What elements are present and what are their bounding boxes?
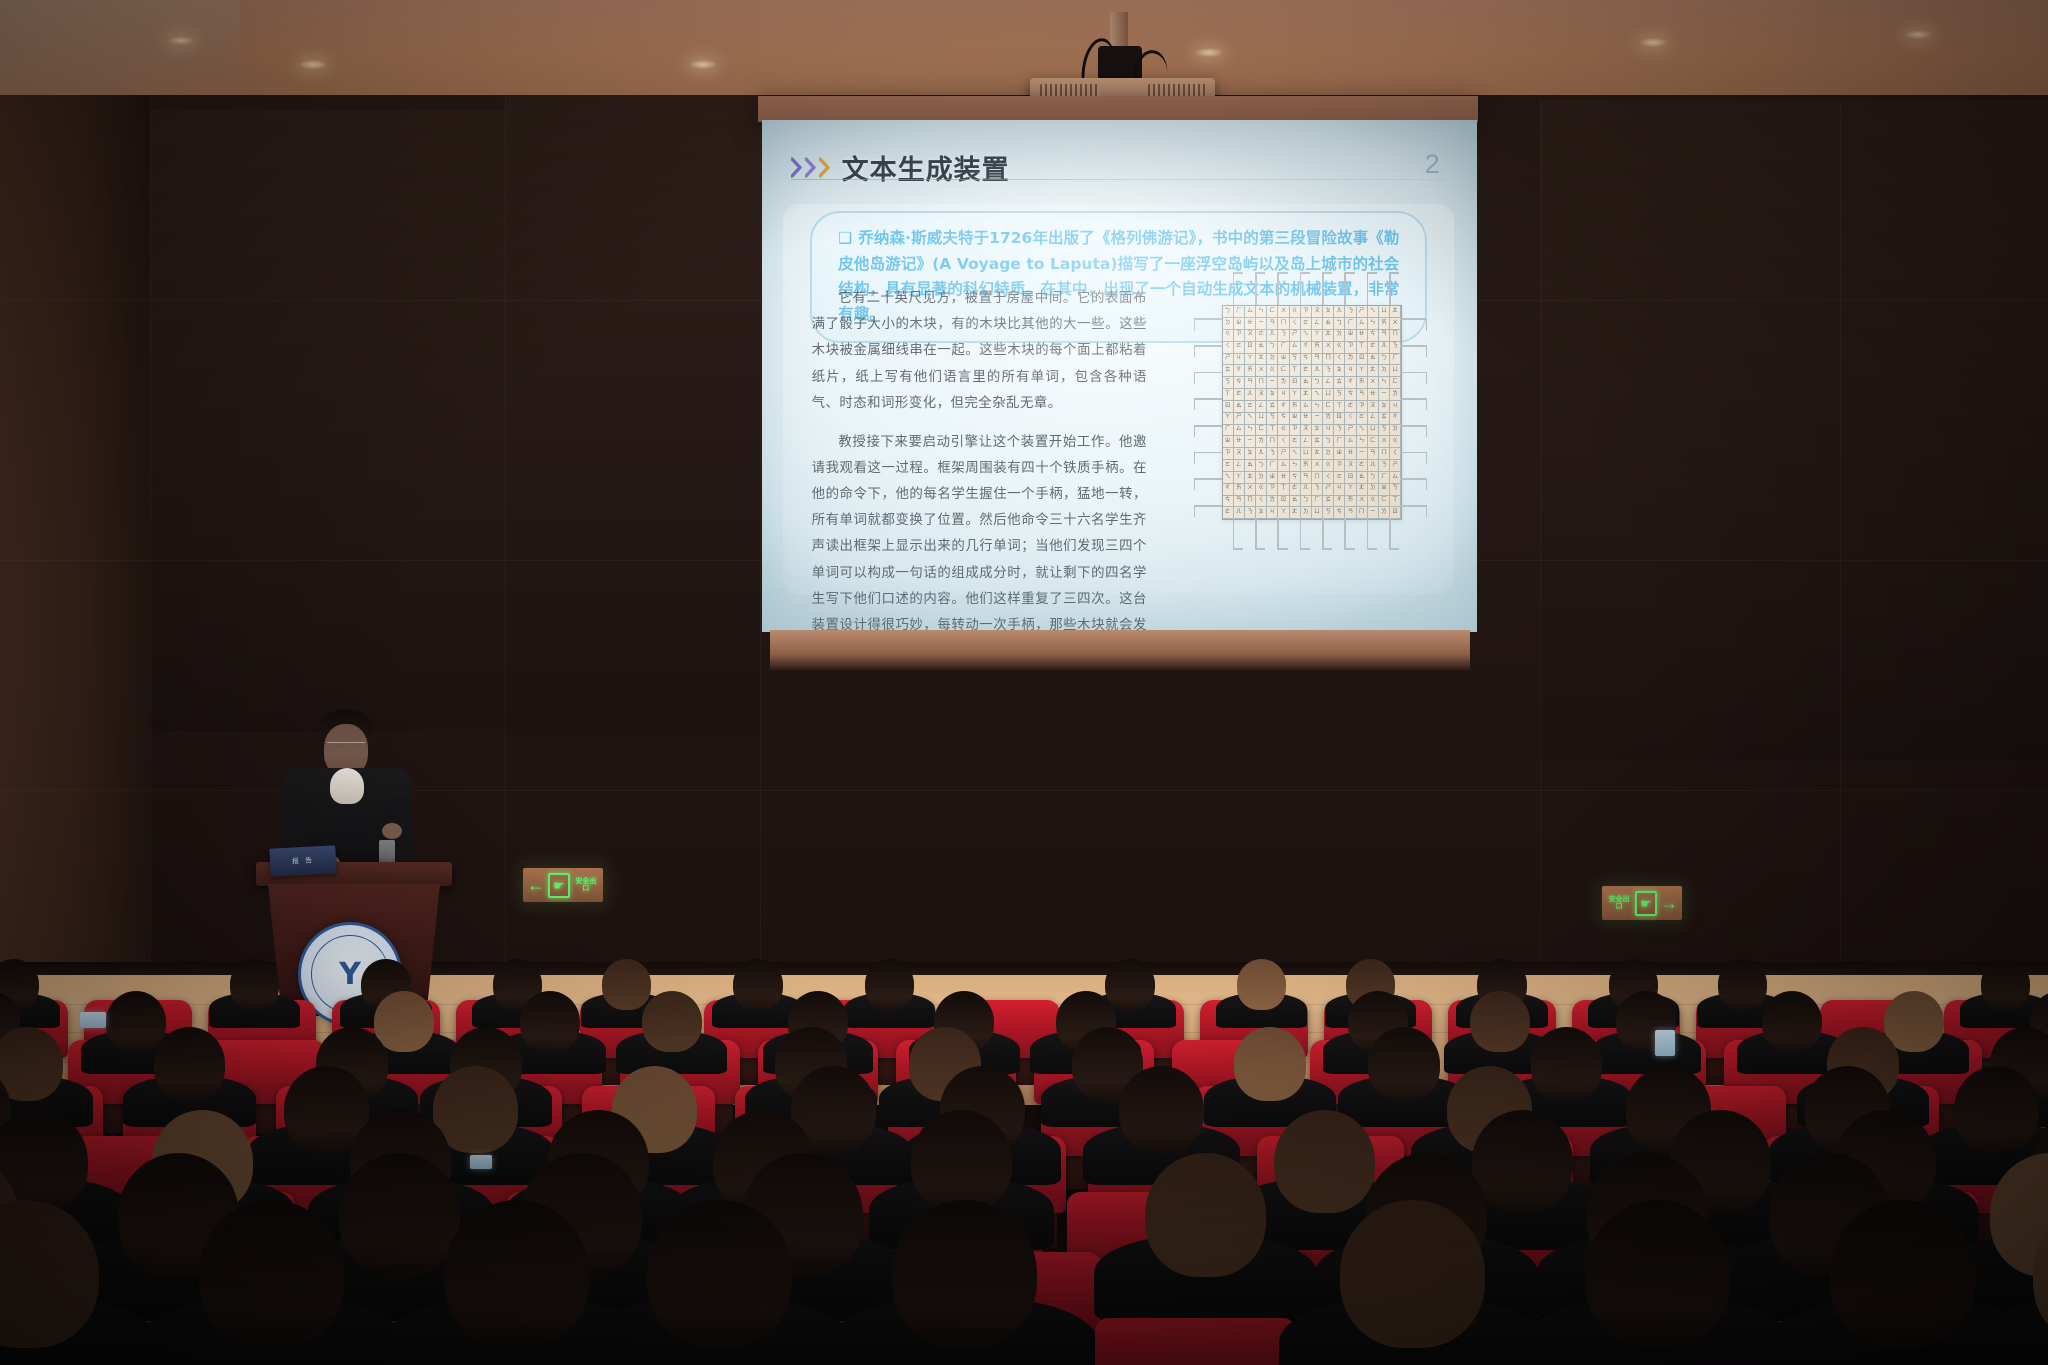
engine-glyph-cell: ㄗ — [1267, 484, 1278, 496]
engine-glyph-cell: ㄆ — [1312, 425, 1323, 437]
engine-glyph-cell: ㄥ — [1256, 401, 1267, 413]
engine-handle-right-bar — [1426, 318, 1428, 330]
engine-glyph-cell: ㄦ — [1245, 389, 1256, 401]
engine-glyph-cell: ㄇ — [1379, 448, 1390, 460]
engine-glyph-cell: ㄐ — [1323, 425, 1334, 437]
engine-glyph-cell: ㄥ — [1312, 318, 1323, 330]
engine-glyph-cell: ㄤ — [1357, 484, 1368, 496]
engine-glyph-cell: ㄦ — [1379, 342, 1390, 354]
engine-glyph-cell: ㄅ — [1301, 496, 1312, 508]
engine-handle-top-bar — [1344, 272, 1354, 274]
engine-glyph-cell: ㄣ — [1312, 401, 1323, 413]
wall-panel-block-left — [150, 110, 505, 730]
engine-glyph-cell: ㄙ — [1234, 425, 1245, 437]
engine-glyph-cell: ㄢ — [1234, 496, 1245, 508]
audience-member-head — [106, 991, 166, 1052]
engine-glyph-cell: ㄉ — [1223, 318, 1234, 330]
engine-glyph-cell: ㄚ — [1357, 365, 1368, 377]
engine-glyph-cell: ㄏ — [1379, 472, 1390, 484]
engine-glyph-cell: ㄘ — [1301, 354, 1312, 366]
engine-glyph-cell: ㄙ — [1345, 436, 1356, 448]
ceiling-left-soffit — [0, 0, 240, 96]
engine-glyph-cell: ㄈ — [1323, 401, 1334, 413]
audience-member-head — [865, 959, 915, 1010]
engine-glyph-cell: ㄆ — [1323, 306, 1334, 318]
engine-handle-left-bar — [1194, 345, 1196, 357]
exit-sign-label: 安全出口 — [573, 878, 599, 893]
engine-glyph-cell: ㄟ — [1368, 306, 1379, 318]
engine-glyph-cell: ㄕ — [1357, 306, 1368, 318]
audience-member-head — [1954, 1066, 2039, 1153]
engine-glyph-cell: ㄤ — [1390, 306, 1401, 318]
slide-title: 文本生成装置 — [842, 148, 1010, 187]
audience-member-head — [1470, 991, 1530, 1052]
engine-glyph-cell: ㄦ — [1368, 460, 1379, 472]
engine-glyph-cell: ㄒ — [1278, 484, 1289, 496]
engine-handle-left-bar — [1194, 452, 1196, 464]
audience-phone-screen — [470, 1155, 492, 1169]
exit-arrow-right-icon: → — [1660, 894, 1678, 912]
engine-handle-top — [1322, 273, 1324, 305]
engine-glyph-cell: ㄖ — [1290, 377, 1301, 389]
engine-glyph-cell: ㄒ — [1267, 425, 1278, 437]
engine-glyph-cell: ㄇ — [1278, 318, 1289, 330]
engine-glyph-cell: ㄚ — [1312, 330, 1323, 342]
engine-glyph-cell: ㄦ — [1267, 330, 1278, 342]
engine-glyph-cell: ㄞ — [1301, 460, 1312, 472]
wall-panel-block-mid — [505, 95, 760, 735]
engine-glyph-cell: ㄣ — [1256, 306, 1267, 318]
engine-glyph-cell: ㄊ — [1267, 401, 1278, 413]
audience-member-head — [602, 959, 652, 1010]
engine-glyph-cell: ㄊ — [1323, 496, 1334, 508]
engine-glyph-cell: ㄣ — [1357, 436, 1368, 448]
exit-sign-right: 安全出口 ☛ → — [1602, 886, 1682, 920]
engine-glyph-cell: ㄎ — [1379, 425, 1390, 437]
engine-glyph-cell: ㄆ — [1334, 365, 1345, 377]
engine-glyph-cell: ㄞ — [1234, 484, 1245, 496]
auditorium-seat[interactable] — [1095, 1318, 1296, 1365]
audience-member-head — [1718, 959, 1768, 1010]
wall-seam — [760, 95, 761, 975]
engine-glyph-cell: ㄌ — [1323, 413, 1334, 425]
engine-glyph-cell: ㄧ — [1256, 318, 1267, 330]
screen-top-valance — [758, 96, 1478, 122]
engine-glyph-cell: ㄧ — [1245, 436, 1256, 448]
engine-glyph-cell: ㄆ — [1245, 448, 1256, 460]
engine-glyph-cell: ㄨ — [1357, 496, 1368, 508]
engine-handle-top-bar — [1389, 272, 1399, 274]
ceiling-downlight — [1640, 38, 1666, 47]
engine-glyph-cell: ㄚ — [1234, 472, 1245, 484]
engine-glyph-cell: ㄟ — [1245, 413, 1256, 425]
engine-glyph-cell: ㄜ — [1345, 401, 1356, 413]
engine-glyph-cell: ㄡ — [1234, 448, 1245, 460]
engine-glyph-cell: ㄏ — [1278, 342, 1289, 354]
engine-glyph-cell: ㄔ — [1390, 413, 1401, 425]
engine-glyph-cell: ㄚ — [1278, 507, 1289, 519]
engine-glyph-cell: ㄣ — [1290, 460, 1301, 472]
engine-glyph-cell: ㄠ — [1256, 342, 1267, 354]
engine-glyph-cell: ㄓ — [1278, 354, 1289, 366]
engine-glyph-cell: ㄜ — [1357, 460, 1368, 472]
engine-glyph-cell: ㄖ — [1390, 507, 1401, 519]
audience-member-head — [1762, 991, 1822, 1052]
engine-glyph-cell: ㄧ — [1357, 448, 1368, 460]
engine-glyph-cell: ㄨ — [1312, 460, 1323, 472]
speaker-shirt — [330, 768, 364, 804]
engine-glyph-cell: ㄦ — [1234, 507, 1245, 519]
engine-glyph-cell: ㄘ — [1223, 496, 1234, 508]
engine-glyph-cell: ㄆ — [1256, 507, 1267, 519]
engine-handle-bottom-bar — [1389, 548, 1399, 550]
engine-glyph-cell: ㄉ — [1334, 330, 1345, 342]
engine-handle-left — [1195, 398, 1222, 400]
engine-glyph-cell: ㄋ — [1379, 460, 1390, 472]
ceiling-downlight — [690, 60, 716, 69]
audience-member-head — [339, 1153, 460, 1277]
engine-glyph-cell: ㄡ — [1312, 306, 1323, 318]
engine-glyph-cell: ㄘ — [1234, 377, 1245, 389]
exit-label-cn: 安全出口 — [575, 878, 596, 892]
engine-glyph-cell: ㄔ — [1234, 365, 1245, 377]
audience-member-head — [1830, 1200, 1975, 1348]
engine-glyph-cell: ㄛ — [1334, 472, 1345, 484]
engine-glyph-cell: ㄓ — [1379, 484, 1390, 496]
engine-glyph-cell: ㄥ — [1234, 460, 1245, 472]
engine-glyph-cell: ㄦ — [1334, 306, 1345, 318]
engine-glyph-cell: ㄠ — [1368, 354, 1379, 366]
engine-glyph-cell: ㄊ — [1223, 365, 1234, 377]
engine-handle-right — [1400, 505, 1427, 507]
engine-glyph-cell: ㄕ — [1290, 330, 1301, 342]
engine-glyph-cell: ㄋ — [1278, 330, 1289, 342]
engine-glyph-cell: ㄝ — [1345, 448, 1356, 460]
audience-member-head — [1105, 959, 1155, 1010]
engine-glyph-cell: ㄨ — [1245, 484, 1256, 496]
engine-glyph-cell: ㄛ — [1234, 342, 1245, 354]
running-man-icon: ☛ — [548, 873, 570, 898]
engine-glyph-cell: ㄒ — [1334, 401, 1345, 413]
engine-glyph-cell: ㄞ — [1379, 318, 1390, 330]
engine-handle-right — [1400, 398, 1427, 400]
engine-glyph-cell: ㄛ — [1290, 436, 1301, 448]
engine-glyph-cell: ㄒ — [1290, 365, 1301, 377]
engine-glyph-cell: ㄌ — [1256, 436, 1267, 448]
engine-handle-right-bar — [1426, 505, 1428, 517]
exit-sign-left: ← ☛ 安全出口 — [523, 868, 603, 902]
engine-glyph-cell: ㄥ — [1301, 436, 1312, 448]
engine-glyph-cell: ㄚ — [1290, 389, 1301, 401]
engine-glyph-grid: ㄅㄏㄙㄣㄈㄨㄍㄗㄡㄆㄦㄋㄕㄟㄩㄤㄉㄓㄝㄧㄢㄇㄑㄛㄥㄠㄅㄏㄙㄣㄞㄨㄍㄗㄡㄜㄦㄋㄕㄟ… — [1222, 305, 1403, 520]
engine-glyph-cell: ㄣ — [1368, 318, 1379, 330]
engine-glyph-cell: ㄆ — [1267, 389, 1278, 401]
audience-member-head — [642, 991, 702, 1052]
engine-handle-right-bar — [1426, 425, 1428, 437]
audience-member-head — [1368, 1027, 1440, 1100]
engine-glyph-cell: ㄍ — [1290, 306, 1301, 318]
engine-handle-top — [1367, 273, 1369, 305]
engine-glyph-cell: ㄌ — [1278, 377, 1289, 389]
engine-glyph-cell: ㄡ — [1368, 401, 1379, 413]
wall-seam — [150, 110, 151, 970]
engine-handle-right — [1400, 318, 1427, 320]
engine-glyph-cell: ㄕ — [1390, 460, 1401, 472]
ceiling-downlight — [1905, 30, 1931, 39]
audience-member-head — [444, 1200, 589, 1348]
wall-seam — [1540, 100, 1541, 975]
engine-glyph-cell: ㄚ — [1245, 354, 1256, 366]
engine-glyph-cell: ㄘ — [1290, 472, 1301, 484]
engine-glyph-cell: ㄕ — [1278, 448, 1289, 460]
engine-glyph-cell: ㄨ — [1256, 365, 1267, 377]
slide-canvas: 文本生成装置 2 ❑乔纳森·斯威夫特于1726年出版了《格列佛游记》，书中的第三… — [762, 120, 1477, 632]
engine-handle-bottom-bar — [1233, 548, 1243, 550]
engine-glyph-cell: ㄥ — [1368, 413, 1379, 425]
engine-handle-top-bar — [1233, 272, 1243, 274]
engine-glyph-cell: ㄅ — [1312, 377, 1323, 389]
engine-handle-top — [1389, 273, 1391, 305]
engine-handle-left — [1195, 478, 1222, 480]
engine-glyph-cell: ㄜ — [1256, 330, 1267, 342]
slide-header: 文本生成装置 — [791, 148, 1010, 187]
engine-glyph-cell: ㄍ — [1390, 436, 1401, 448]
engine-glyph-cell: ㄧ — [1267, 377, 1278, 389]
audience-member-head — [911, 1110, 1012, 1213]
engine-glyph-cell: ㄎ — [1223, 377, 1234, 389]
engine-glyph-cell: ㄦ — [1256, 448, 1267, 460]
engine-handle-top-bar — [1322, 272, 1332, 274]
engine-glyph-cell: ㄔ — [1334, 496, 1345, 508]
audience-member-head — [1234, 1027, 1306, 1100]
exit-sign-label: 安全出口 — [1606, 896, 1632, 911]
engine-glyph-cell: ㄆ — [1379, 401, 1390, 413]
slide-body-text: 它有二十英尺见方，被置于房屋中间。它的表面布满了骰子大小的木块，有的木块比其他的… — [812, 286, 1147, 632]
engine-glyph-cell: ㄉ — [1267, 354, 1278, 366]
audience-member-head — [1340, 1200, 1485, 1348]
nameplate-text: 报 告 — [292, 855, 315, 866]
audience-member-head — [374, 991, 434, 1052]
engine-handle-left — [1195, 372, 1222, 374]
engine-handle-top-bar — [1300, 272, 1310, 274]
engine-handle-bottom — [1389, 518, 1391, 550]
engine-glyph-cell: ㄨ — [1379, 436, 1390, 448]
engine-handle-right — [1400, 345, 1427, 347]
engine-glyph-cell: ㄧ — [1312, 413, 1323, 425]
engine-glyph-cell: ㄓ — [1223, 436, 1234, 448]
engine-glyph-cell: ㄑ — [1390, 448, 1401, 460]
engine-handle-bottom-bar — [1300, 548, 1310, 550]
engine-glyph-cell: ㄡ — [1301, 425, 1312, 437]
engine-glyph-cell: ㄉ — [1368, 484, 1379, 496]
engine-glyph-cell: ㄅ — [1223, 306, 1234, 318]
engine-glyph-cell: ㄒ — [1357, 342, 1368, 354]
engine-glyph-cell: ㄟ — [1301, 330, 1312, 342]
engine-glyph-cell: ㄏ — [1234, 306, 1245, 318]
engine-glyph-cell: ㄖ — [1278, 496, 1289, 508]
engine-glyph-cell: ㄟ — [1223, 472, 1234, 484]
engine-glyph-cell: ㄕ — [1234, 413, 1245, 425]
engine-glyph-cell: ㄤ — [1323, 330, 1334, 342]
engine-glyph-cell: ㄗ — [1290, 425, 1301, 437]
engine-glyph-cell: ㄜ — [1301, 365, 1312, 377]
body-paragraph: 它有二十英尺见方，被置于房屋中间。它的表面布满了骰子大小的木块，有的木块比其他的… — [812, 286, 1147, 417]
engine-handle-top-bar — [1255, 272, 1265, 274]
engine-glyph-cell: ㄗ — [1301, 306, 1312, 318]
engine-glyph-cell: ㄌ — [1345, 354, 1356, 366]
engine-glyph-cell: ㄠ — [1357, 472, 1368, 484]
engine-handle-bottom — [1277, 518, 1279, 550]
engine-glyph-cell: ㄢ — [1301, 472, 1312, 484]
engine-handle-right — [1400, 425, 1427, 427]
lecture-hall-photo: 文本生成装置 2 ❑乔纳森·斯威夫特于1726年出版了《格列佛游记》，书中的第三… — [0, 0, 2048, 1365]
engine-glyph-cell: ㄎ — [1323, 507, 1334, 519]
engine-glyph-cell: ㄦ — [1312, 365, 1323, 377]
engine-glyph-cell: ㄨ — [1368, 377, 1379, 389]
engine-handle-left — [1195, 452, 1222, 454]
engine-glyph-cell: ㄜ — [1368, 342, 1379, 354]
engine-glyph-cell: ㄠ — [1301, 377, 1312, 389]
engine-glyph-cell: ㄋ — [1267, 448, 1278, 460]
engine-glyph-cell: ㄟ — [1357, 425, 1368, 437]
laputa-text-engine-diagram: ㄅㄏㄙㄣㄈㄨㄍㄗㄡㄆㄦㄋㄕㄟㄩㄤㄉㄓㄝㄧㄢㄇㄑㄛㄥㄠㄅㄏㄙㄣㄞㄨㄍㄗㄡㄜㄦㄋㄕㄟ… — [1193, 271, 1434, 559]
engine-glyph-cell: ㄈ — [1256, 425, 1267, 437]
engine-glyph-cell: ㄉ — [1301, 507, 1312, 519]
engine-glyph-cell: ㄐ — [1278, 389, 1289, 401]
engine-glyph-cell: ㄗ — [1357, 401, 1368, 413]
engine-glyph-cell: ㄑ — [1223, 342, 1234, 354]
engine-handle-left-bar — [1194, 398, 1196, 410]
engine-glyph-cell: ㄑ — [1323, 472, 1334, 484]
engine-glyph-cell: ㄎ — [1267, 413, 1278, 425]
audience-member-head — [1472, 1110, 1573, 1213]
engine-glyph-cell: ㄐ — [1334, 484, 1345, 496]
engine-glyph-cell: ㄍ — [1223, 330, 1234, 342]
exit-label-cn: 安全出口 — [1609, 896, 1630, 910]
speaker-glasses — [327, 742, 365, 748]
engine-glyph-cell: ㄡ — [1245, 330, 1256, 342]
engine-glyph-cell: ㄟ — [1290, 448, 1301, 460]
engine-glyph-cell: ㄋ — [1345, 306, 1356, 318]
engine-glyph-cell: ㄖ — [1223, 401, 1234, 413]
engine-glyph-cell: ㄞ — [1290, 401, 1301, 413]
slide-header-rule — [791, 179, 1447, 180]
engine-glyph-cell: ㄧ — [1379, 389, 1390, 401]
engine-handle-right — [1400, 372, 1427, 374]
engine-handle-top — [1277, 273, 1279, 305]
audience-member-head — [1237, 959, 1287, 1010]
engine-glyph-cell: ㄈ — [1278, 365, 1289, 377]
engine-glyph-cell: ㄓ — [1334, 448, 1345, 460]
engine-glyph-cell: ㄅ — [1379, 354, 1390, 366]
engine-glyph-cell: ㄉ — [1323, 448, 1334, 460]
engine-glyph-cell: ㄅ — [1323, 436, 1334, 448]
engine-glyph-cell: ㄌ — [1267, 496, 1278, 508]
engine-glyph-cell: ㄖ — [1345, 472, 1356, 484]
audience-member-head — [199, 1200, 344, 1348]
engine-glyph-cell: ㄊ — [1312, 436, 1323, 448]
engine-glyph-cell: ㄅ — [1256, 460, 1267, 472]
engine-glyph-cell: ㄤ — [1256, 354, 1267, 366]
engine-handle-left — [1195, 505, 1222, 507]
ceiling-downlight — [1196, 48, 1222, 57]
engine-glyph-cell: ㄎ — [1290, 354, 1301, 366]
engine-handle-left — [1195, 345, 1222, 347]
engine-glyph-cell: ㄛ — [1357, 413, 1368, 425]
engine-glyph-cell: ㄏ — [1334, 436, 1345, 448]
audience-member-head — [154, 1027, 226, 1100]
speaker-hand-right — [382, 823, 402, 839]
engine-glyph-cell: ㄝ — [1301, 413, 1312, 425]
audience-member-head — [1531, 1027, 1603, 1100]
engine-glyph-cell: ㄍ — [1278, 425, 1289, 437]
engine-glyph-cell: ㄋ — [1390, 342, 1401, 354]
engine-glyph-cell: ㄝ — [1357, 330, 1368, 342]
engine-glyph-cell: ㄓ — [1345, 330, 1356, 342]
engine-glyph-cell: ㄅ — [1267, 342, 1278, 354]
engine-handle-left — [1195, 425, 1222, 427]
wall-seam — [505, 95, 506, 975]
engine-glyph-cell: ㄝ — [1278, 472, 1289, 484]
engine-glyph-cell: ㄉ — [1256, 472, 1267, 484]
ceiling-downlight — [168, 36, 194, 45]
engine-handle-left-bar — [1194, 505, 1196, 517]
body-paragraph: 教授接下来要启动引擎让这个装置开始工作。他邀请我观看这一过程。框架周围装有四十个… — [812, 430, 1147, 632]
engine-glyph-cell: ㄞ — [1357, 377, 1368, 389]
engine-handle-bottom-bar — [1367, 548, 1377, 550]
engine-glyph-cell: ㄠ — [1323, 318, 1334, 330]
engine-glyph-cell: ㄓ — [1234, 318, 1245, 330]
engine-glyph-cell: ㄍ — [1256, 484, 1267, 496]
engine-glyph-cell: ㄏ — [1390, 354, 1401, 366]
engine-glyph-cell: ㄣ — [1379, 377, 1390, 389]
engine-glyph-cell: ㄝ — [1368, 389, 1379, 401]
engine-glyph-cell: ㄒ — [1223, 389, 1234, 401]
audience-phone-screen — [1655, 1030, 1675, 1056]
engine-glyph-cell: ㄩ — [1323, 389, 1334, 401]
engine-handle-top — [1255, 273, 1257, 305]
engine-glyph-cell: ㄐ — [1234, 354, 1245, 366]
engine-glyph-cell: ㄘ — [1368, 330, 1379, 342]
engine-glyph-cell: ㄇ — [1390, 330, 1401, 342]
engine-handle-top-bar — [1277, 272, 1287, 274]
engine-handle-left-bar — [1194, 372, 1196, 384]
engine-glyph-cell: ㄈ — [1368, 436, 1379, 448]
engine-handle-bottom — [1344, 518, 1346, 550]
engine-glyph-cell: ㄩ — [1301, 448, 1312, 460]
audience-member-head — [1145, 1153, 1266, 1277]
projection-screen: 文本生成装置 2 ❑乔纳森·斯威夫特于1726年出版了《格列佛游记》，书中的第三… — [762, 120, 1477, 632]
engine-glyph-cell: ㄅ — [1368, 472, 1379, 484]
engine-glyph-cell: ㄢ — [1379, 330, 1390, 342]
engine-glyph-cell: ㄈ — [1267, 306, 1278, 318]
audience-phone-screen — [80, 1012, 106, 1028]
engine-glyph-cell: ㄤ — [1245, 472, 1256, 484]
callout-bullet-icon: ❑ — [838, 229, 852, 247]
engine-glyph-cell: ㄙ — [1357, 318, 1368, 330]
engine-glyph-cell: ㄜ — [1234, 389, 1245, 401]
engine-glyph-cell: ㄏ — [1267, 460, 1278, 472]
engine-glyph-cell: ㄈ — [1390, 377, 1401, 389]
engine-glyph-cell: ㄕ — [1323, 484, 1334, 496]
engine-glyph-cell: ㄏ — [1223, 425, 1234, 437]
engine-glyph-cell: ㄑ — [1290, 318, 1301, 330]
engine-glyph-cell: ㄓ — [1290, 413, 1301, 425]
engine-handle-right-bar — [1426, 345, 1428, 357]
engine-handle-bottom — [1300, 518, 1302, 550]
engine-glyph-cell: ㄢ — [1312, 354, 1323, 366]
engine-glyph-cell: ㄝ — [1234, 436, 1245, 448]
